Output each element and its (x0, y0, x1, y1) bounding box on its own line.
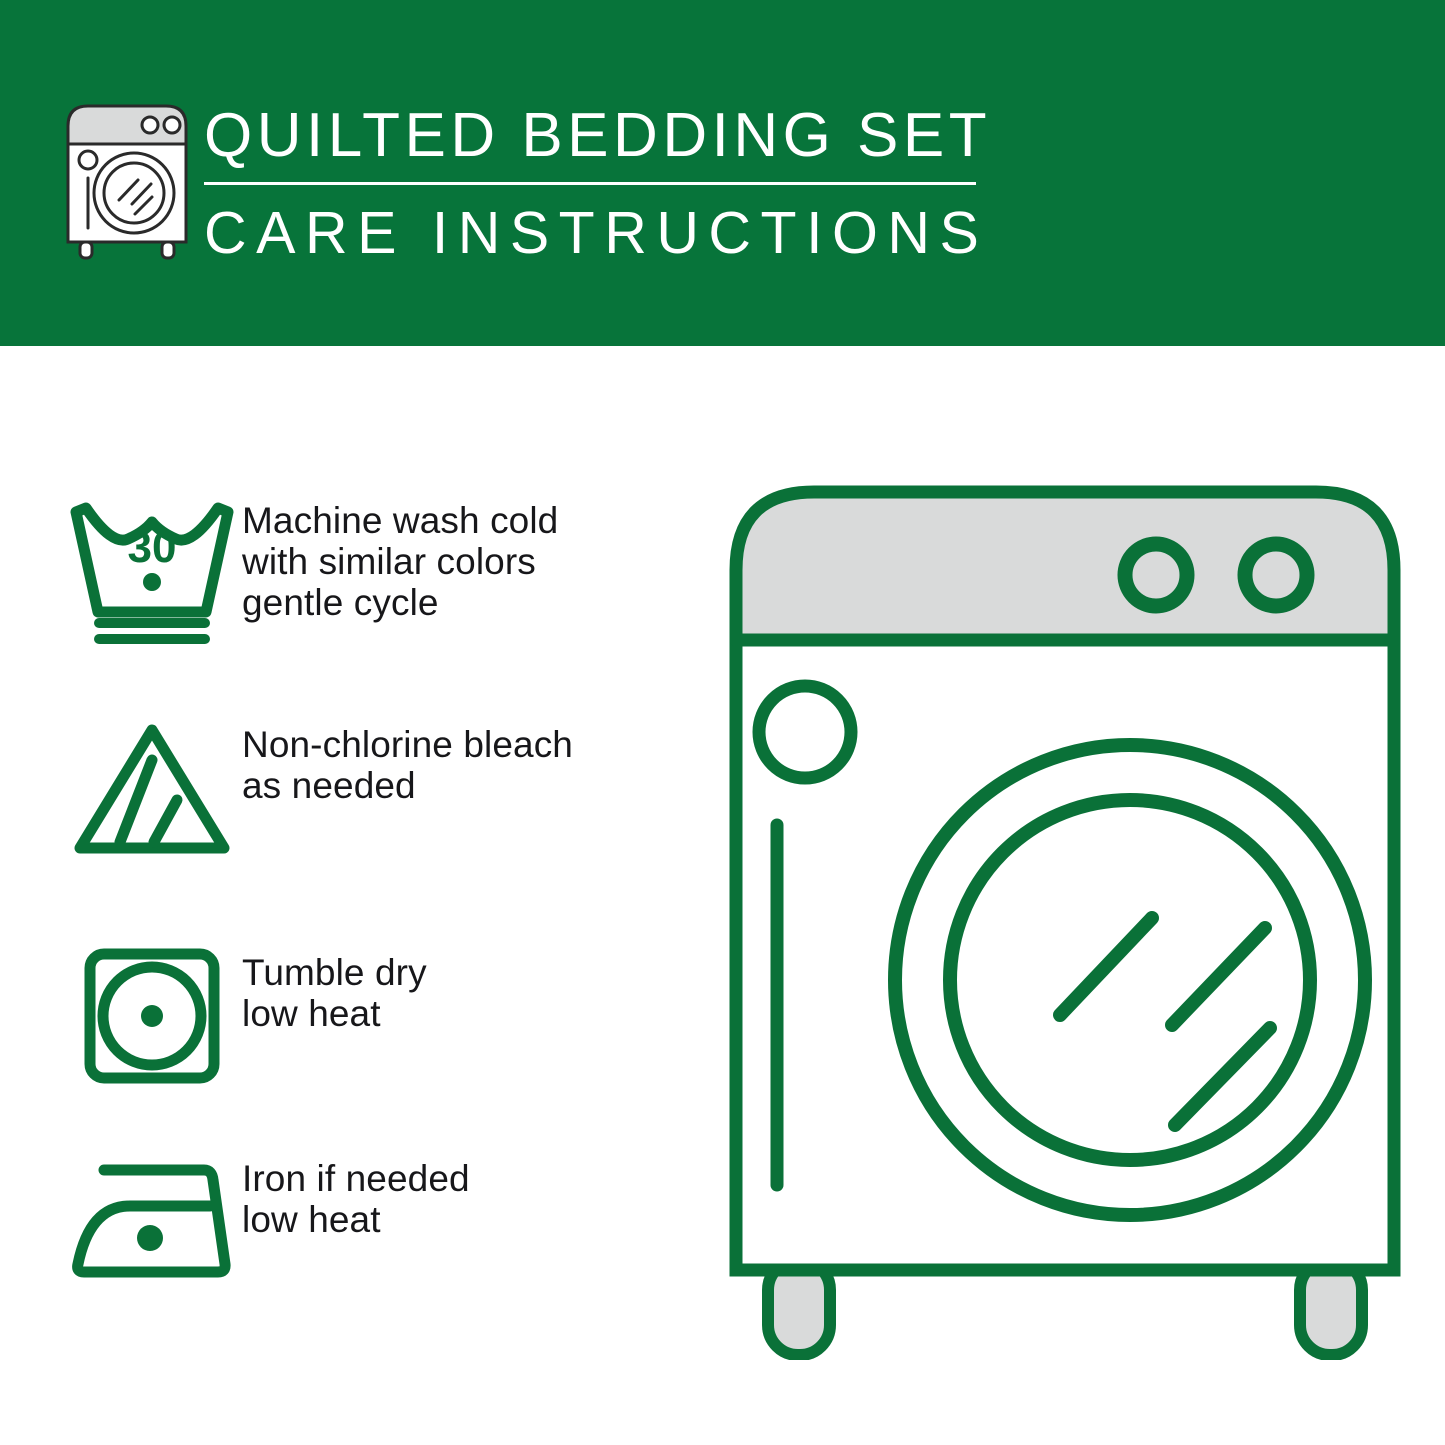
tumble-dry-low-heat-icon (62, 946, 242, 1086)
washing-machine-illustration (720, 470, 1410, 1360)
care-text-machine-wash: Machine wash cold with similar colors ge… (242, 494, 558, 623)
iron-low-heat-icon (62, 1152, 242, 1282)
care-line: Iron if needed (242, 1158, 470, 1199)
header-text-block: QUILTED BEDDING SET CARE INSTRUCTIONS (200, 100, 990, 267)
care-row-tumble-dry: Tumble dry low heat (62, 946, 427, 1086)
care-line: Tumble dry (242, 952, 427, 993)
care-instructions-page: QUILTED BEDDING SET CARE INSTRUCTIONS 30… (0, 0, 1445, 1445)
care-row-iron: Iron if needed low heat (62, 1152, 470, 1282)
svg-text:30: 30 (128, 523, 177, 572)
washing-machine-logo-icon (62, 100, 192, 260)
care-text-tumble-dry: Tumble dry low heat (242, 946, 427, 1034)
care-line: gentle cycle (242, 582, 558, 623)
care-text-bleach: Non-chlorine bleach as needed (242, 718, 573, 806)
care-line: Non-chlorine bleach (242, 724, 573, 765)
non-chlorine-bleach-triangle-icon (62, 718, 242, 858)
care-row-machine-wash: 30 Machine wash cold with similar colors… (62, 494, 558, 644)
page-subtitle: CARE INSTRUCTIONS (200, 199, 990, 267)
care-line: low heat (242, 993, 427, 1034)
wash-tub-30-gentle-icon: 30 (62, 494, 242, 644)
page-title: QUILTED BEDDING SET (200, 100, 990, 172)
care-line: as needed (242, 765, 573, 806)
care-text-iron: Iron if needed low heat (242, 1152, 470, 1240)
care-line: Machine wash cold (242, 500, 558, 541)
header-banner: QUILTED BEDDING SET CARE INSTRUCTIONS (0, 0, 1445, 346)
title-divider (204, 182, 976, 185)
care-row-bleach: Non-chlorine bleach as needed (62, 718, 573, 858)
care-line: low heat (242, 1199, 470, 1240)
care-line: with similar colors (242, 541, 558, 582)
